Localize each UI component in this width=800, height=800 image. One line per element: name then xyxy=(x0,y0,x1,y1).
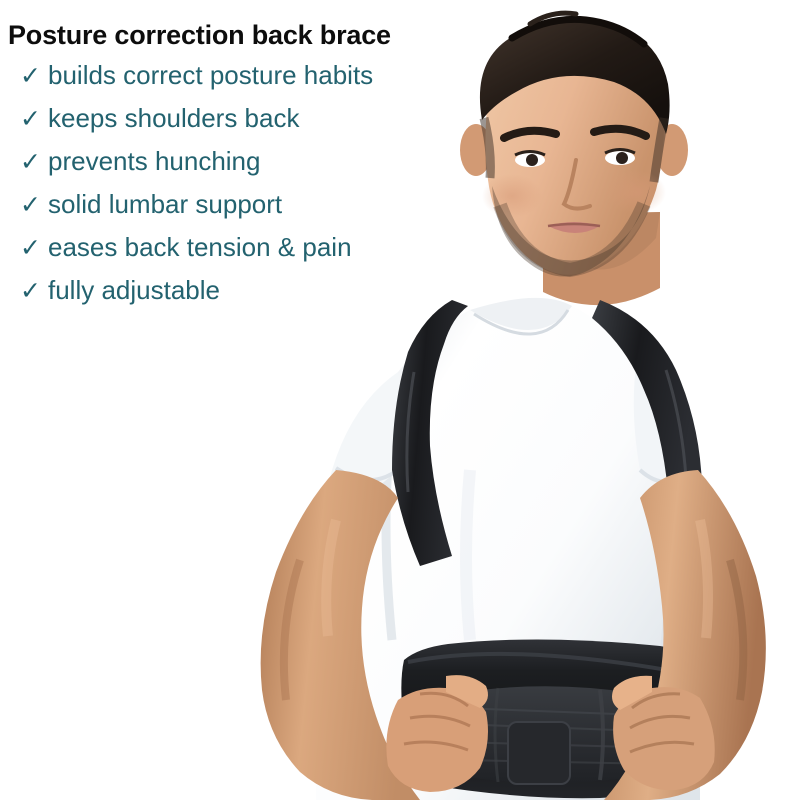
benefit-label: keeps shoulders back xyxy=(48,105,299,131)
benefit-label: eases back tension & pain xyxy=(48,234,352,260)
benefit-item: ✓ prevents hunching xyxy=(20,148,373,191)
page-title: Posture correction back brace xyxy=(8,20,391,51)
benefit-list: ✓ builds correct posture habits ✓ keeps … xyxy=(20,62,373,320)
check-icon: ✓ xyxy=(20,236,48,261)
cheek-left xyxy=(482,174,542,218)
benefit-item: ✓ solid lumbar support xyxy=(20,191,373,234)
benefit-label: fully adjustable xyxy=(48,277,220,303)
benefit-label: prevents hunching xyxy=(48,148,260,174)
iris-right xyxy=(616,152,628,164)
marketing-text-panel: Posture correction back brace ✓ builds c… xyxy=(0,0,470,330)
benefit-item: ✓ fully adjustable xyxy=(20,277,373,320)
benefit-label: builds correct posture habits xyxy=(48,62,373,88)
check-icon: ✓ xyxy=(20,279,48,304)
product-marketing-image: Posture correction back brace ✓ builds c… xyxy=(0,0,800,800)
benefit-item: ✓ keeps shoulders back xyxy=(20,105,373,148)
shirt-fold-center xyxy=(466,470,470,640)
benefit-label: solid lumbar support xyxy=(48,191,282,217)
check-icon: ✓ xyxy=(20,193,48,218)
check-icon: ✓ xyxy=(20,107,48,132)
iris-left xyxy=(526,154,538,166)
belt-velcro-tab xyxy=(508,722,570,784)
benefit-item: ✓ eases back tension & pain xyxy=(20,234,373,277)
check-icon: ✓ xyxy=(20,150,48,175)
benefit-item: ✓ builds correct posture habits xyxy=(20,62,373,105)
check-icon: ✓ xyxy=(20,64,48,89)
